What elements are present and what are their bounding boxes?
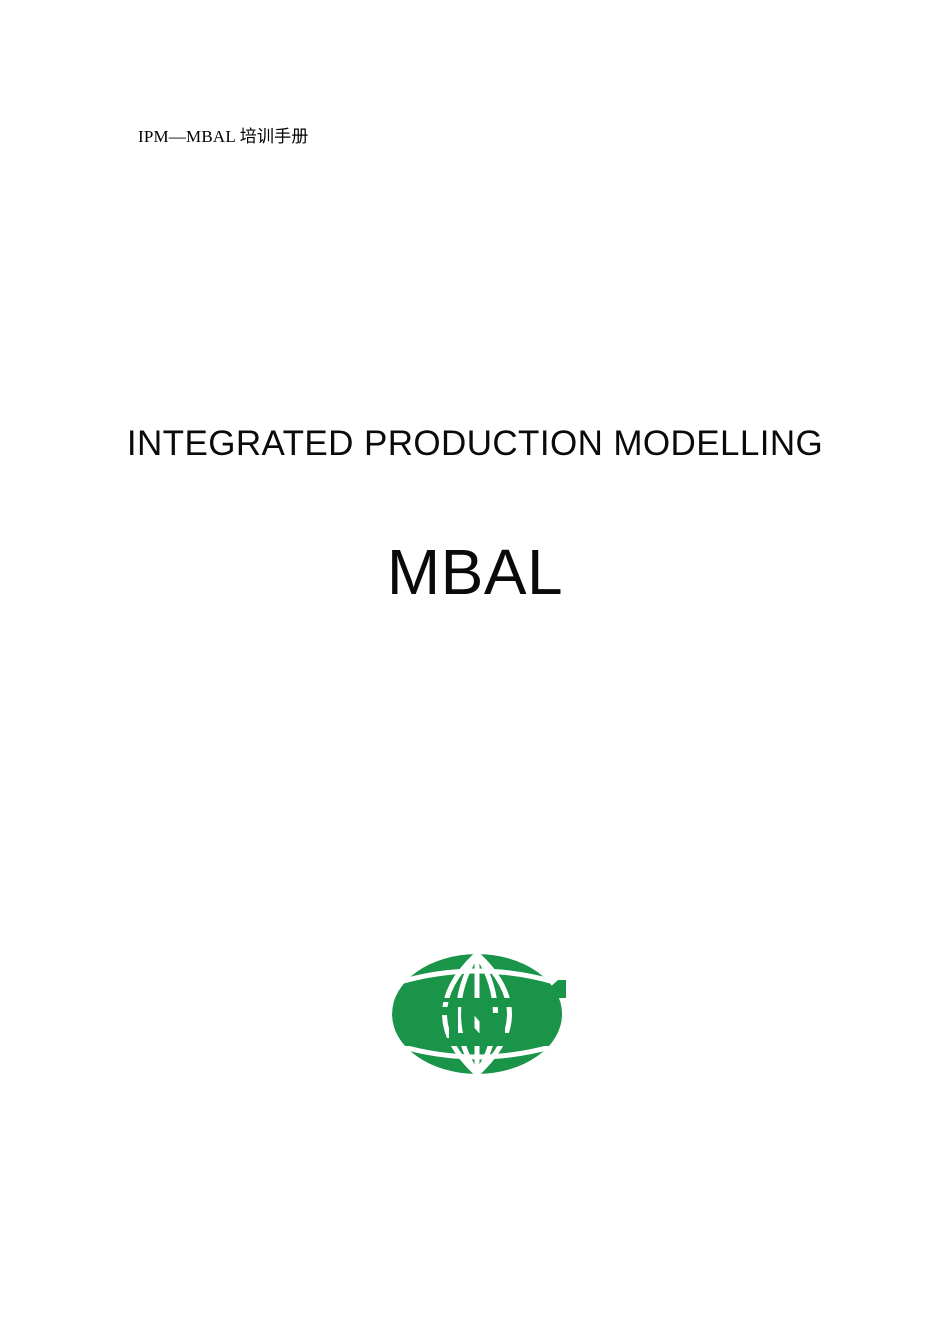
document-page: IPM—MBAL 培训手册 INTEGRATED PRODUCTION MODE…	[0, 0, 950, 1344]
page-subtitle: MBAL	[0, 539, 950, 606]
document-header: IPM—MBAL 培训手册	[138, 126, 309, 149]
gnt-logo	[388, 950, 566, 1078]
gnt-logo-icon	[388, 950, 566, 1078]
subtitle-block: MBAL	[0, 539, 950, 606]
title-block: INTEGRATED PRODUCTION MODELLING	[0, 424, 950, 464]
gnt-wordmark-band	[388, 950, 566, 1078]
page-title: INTEGRATED PRODUCTION MODELLING	[0, 424, 950, 464]
